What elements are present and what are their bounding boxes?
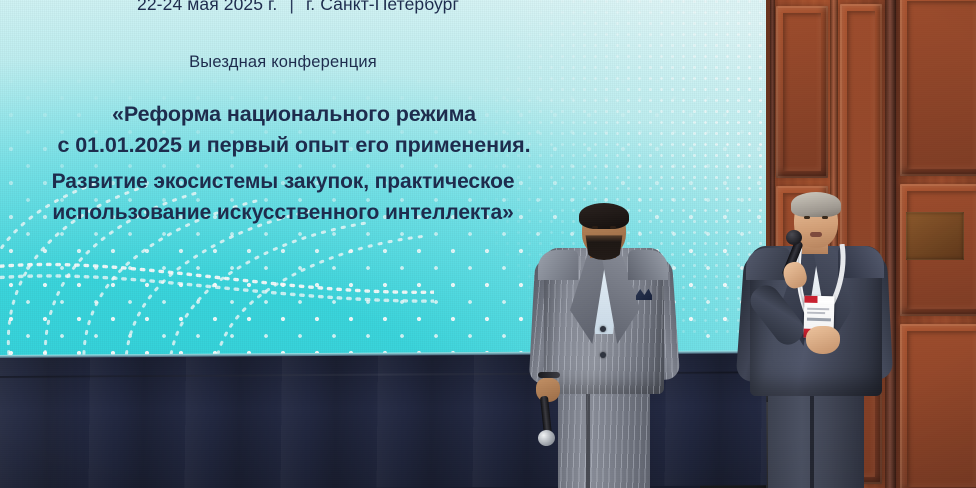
wood-carved-ornament: [906, 212, 964, 260]
jacket-button: [600, 326, 606, 332]
microphone-head: [537, 429, 556, 447]
speaker-left-eye-right: [610, 226, 616, 229]
speaker-right-hair: [791, 192, 841, 217]
wood-raised-panel: [900, 324, 976, 488]
trouser-leg-gap: [586, 392, 590, 488]
speaker-right-mouth: [810, 232, 822, 237]
title-line-2: с 01.01.2025 и первый опыт его применени…: [0, 130, 594, 161]
badge-text-line: [807, 308, 829, 311]
event-kicker: Выездная конференция: [0, 53, 572, 72]
speaker-left-figure: [524, 206, 684, 488]
microphone-head: [786, 230, 802, 245]
speaker-left-eye-left: [592, 226, 598, 229]
speaker-left-shoulder-right: [628, 250, 668, 280]
jacket-button: [600, 352, 606, 358]
speaker-right-eye-left: [804, 216, 810, 219]
event-date-location: 22-24 мая 2025 г. | г. Санкт-Петербург: [0, 0, 602, 15]
title-line-3: Развитие экосистемы закупок, практическо…: [0, 166, 572, 197]
event-title-part-2: Развитие экосистемы закупок, практическо…: [0, 166, 572, 228]
event-city: г. Санкт-Петербург: [306, 0, 459, 14]
wood-raised-panel: [900, 0, 976, 176]
badge-name-line: [807, 318, 831, 322]
speaker-right-eye-right: [822, 216, 828, 219]
speaker-right-figure: [740, 188, 898, 488]
speaker-right-hand-resting: [806, 326, 840, 354]
text-separator: |: [282, 0, 301, 15]
speaker-left-hair: [579, 203, 629, 229]
wood-raised-panel: [776, 6, 828, 178]
title-line-1: «Реформа национального режима: [0, 99, 594, 130]
event-title-part-1: «Реформа национального режима с 01.01.20…: [0, 99, 594, 161]
badge-header-stripe: [804, 296, 834, 304]
badge-text-line: [807, 312, 825, 314]
event-date: 22-24 мая 2025 г.: [137, 0, 277, 14]
title-line-4: использование искусственного интеллекта»: [0, 197, 572, 228]
trouser-leg-gap: [810, 394, 814, 488]
conference-photo-scene: 22-24 мая 2025 г. | г. Санкт-Петербург В…: [0, 0, 976, 488]
speaker-left-shoulder-left: [538, 250, 578, 280]
